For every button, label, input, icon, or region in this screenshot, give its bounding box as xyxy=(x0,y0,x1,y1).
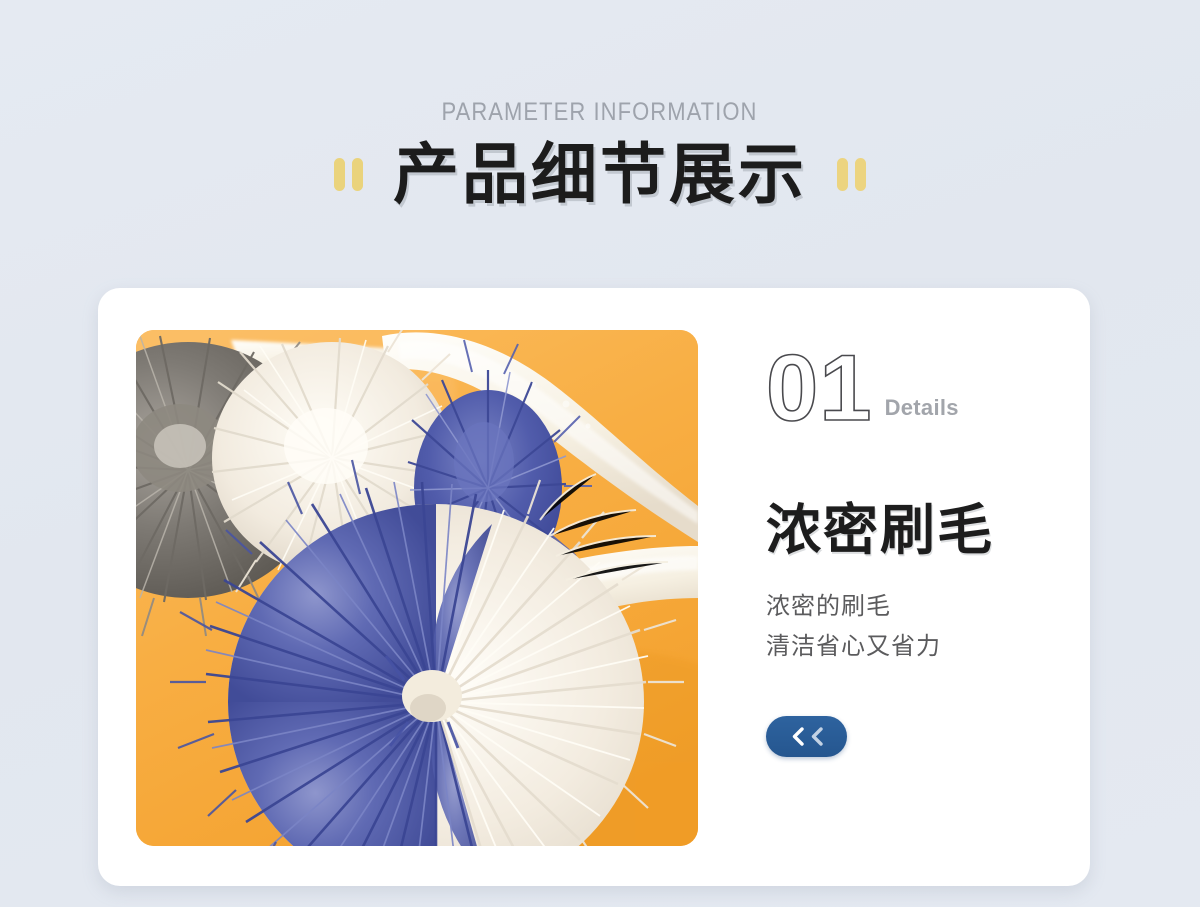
detail-number-row: 01 Details xyxy=(766,348,1066,429)
header-eyebrow: PARAMETER INFORMATION xyxy=(442,98,758,127)
header-title-row: 产品细节展示 xyxy=(0,141,1200,207)
chevron-left-icon xyxy=(789,727,806,746)
detail-card: 01 Details 浓密刷毛 浓密的刷毛 清洁省心又省力 xyxy=(98,288,1090,886)
quote-mark-left-icon xyxy=(334,158,363,191)
chevron-left-secondary-icon xyxy=(808,727,825,746)
page-header: PARAMETER INFORMATION 产品细节展示 xyxy=(0,0,1200,207)
prev-slide-button[interactable] xyxy=(766,716,847,757)
detail-subtext-line-2: 清洁省心又省力 xyxy=(766,627,1066,667)
page-title: 产品细节展示 xyxy=(393,141,807,207)
detail-panel: 01 Details 浓密刷毛 浓密的刷毛 清洁省心又省力 xyxy=(766,348,1066,757)
detail-number: 01 xyxy=(766,348,873,429)
detail-number-label: Details xyxy=(885,395,959,429)
product-photo[interactable] xyxy=(136,330,698,846)
detail-subtext: 浓密的刷毛 清洁省心又省力 xyxy=(766,587,1066,667)
quote-mark-right-icon xyxy=(837,158,866,191)
detail-headline: 浓密刷毛 xyxy=(766,503,1066,558)
detail-subtext-line-1: 浓密的刷毛 xyxy=(766,587,1066,627)
